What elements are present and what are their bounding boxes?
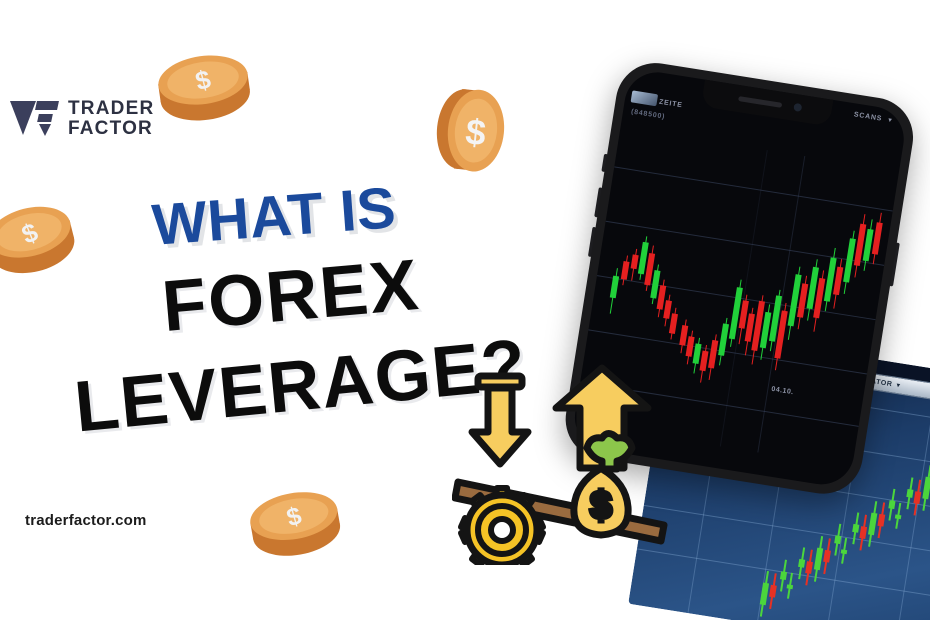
gear-fulcrum-icon <box>461 488 543 565</box>
candle-body <box>805 561 813 574</box>
logo-f-mid-bar <box>37 114 53 122</box>
phone-notch <box>701 80 834 127</box>
headline-line-1: WHAT IS <box>150 174 398 259</box>
candle-body <box>834 536 841 545</box>
candle-body <box>859 526 867 539</box>
front-camera-icon <box>793 103 802 112</box>
zeite-label: ZEITE <box>658 99 683 110</box>
candle-body <box>669 313 678 334</box>
forex-leverage-illustration: $ <box>452 360 682 565</box>
instrument-code-label: (848500) <box>631 108 666 120</box>
coin-left-edge: $ <box>0 187 83 291</box>
chevron-down-icon: ▼ <box>887 117 894 124</box>
candle-body <box>786 585 793 590</box>
poster-canvas: INDIKATOR ▼ SCAN ZEITRAUM ▼ ZEITEINHEIT … <box>0 0 930 620</box>
down-arrow-icon <box>472 376 528 464</box>
brand-wordmark: TRADER FACTOR <box>68 99 154 139</box>
money-bag-dollar-symbol: $ <box>590 485 611 527</box>
site-url[interactable]: traderfactor.com <box>25 512 147 529</box>
candle-body <box>780 571 787 580</box>
brand-logo[interactable]: TRADER FACTOR <box>10 98 154 140</box>
logo-triangle-shape <box>10 101 36 135</box>
candle-body <box>841 550 848 555</box>
logo-f-top-bar <box>35 101 59 110</box>
scans-label: SCANS <box>853 111 882 122</box>
traderfactor-logo-mark <box>10 98 60 140</box>
app-badge-icon <box>631 90 659 106</box>
logo-f-stem <box>39 124 51 136</box>
coin-bottom-center: $ <box>240 476 350 570</box>
candle-body <box>631 254 639 269</box>
earpiece-speaker <box>738 96 782 108</box>
coin-top-left: $ <box>147 41 261 133</box>
brand-wordmark-line1: TRADER <box>68 99 154 119</box>
candle-body <box>823 549 831 562</box>
candle-series <box>621 127 900 171</box>
coin-top-center: $ <box>424 82 517 178</box>
candle-body <box>922 477 930 500</box>
candle-body <box>769 585 777 598</box>
scans-dropdown[interactable]: SCANS ▼ <box>853 111 893 124</box>
candle-body <box>877 514 885 527</box>
candle-body <box>914 491 922 504</box>
brand-wordmark-line2: FACTOR <box>68 119 154 139</box>
svg-text:$: $ <box>464 111 488 154</box>
candle-body <box>852 524 859 533</box>
headline-line-2: FOREX <box>159 244 423 348</box>
candle-body <box>798 559 805 568</box>
